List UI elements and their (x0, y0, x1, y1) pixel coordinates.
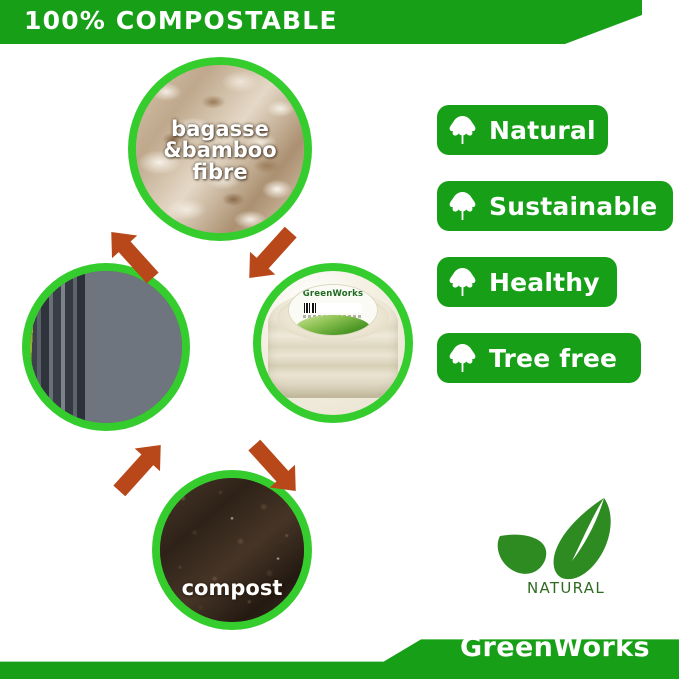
lifecycle-node-sugarcane (22, 263, 190, 431)
feature-badge-natural-label: Natural (489, 116, 596, 145)
leaf-icon (449, 267, 476, 297)
product-photo: GreenWorks product description text (261, 271, 405, 415)
sugarcane-texture (30, 271, 182, 423)
bagasse-photo (136, 65, 304, 233)
arrow-compost-to-sugarcane-icon (107, 434, 174, 503)
lifecycle-node-product: GreenWorks product description text (253, 263, 413, 423)
leaf-icon (449, 191, 476, 221)
feature-badge-healthy-label: Healthy (489, 268, 600, 297)
product-texture: GreenWorks product description text (261, 271, 405, 415)
brand-logo: NATURAL (486, 495, 646, 607)
page-title: 100% COMPOSTABLE (24, 6, 338, 35)
feature-badge-healthy[interactable]: Healthy (437, 257, 617, 307)
barcode-icon (304, 303, 362, 313)
leaf-icon (449, 343, 476, 373)
feature-badge-sustainable[interactable]: Sustainable (437, 181, 673, 231)
feature-badge-treefree[interactable]: Tree free (437, 333, 641, 383)
sugarcane-photo (30, 271, 182, 423)
label-brand-text: GreenWorks (289, 289, 376, 299)
feature-badge-natural[interactable]: Natural (437, 105, 608, 155)
bagasse-texture (136, 65, 304, 233)
product-label: GreenWorks product description text (288, 284, 377, 336)
feature-badge-sustainable-label: Sustainable (489, 192, 657, 221)
brand-logo-word: NATURAL (486, 579, 646, 597)
label-leaf-graphic (295, 315, 372, 336)
compostable-tableware-infographic: 100% COMPOSTABLE bagasse &bamboo fibre G… (0, 0, 679, 679)
lifecycle-node-bagasse: bagasse &bamboo fibre (128, 57, 312, 241)
two-leaves-icon (486, 495, 646, 585)
footer-brand: GreenWorks (460, 632, 650, 663)
leaf-icon (449, 115, 476, 145)
feature-badge-treefree-label: Tree free (489, 344, 617, 373)
